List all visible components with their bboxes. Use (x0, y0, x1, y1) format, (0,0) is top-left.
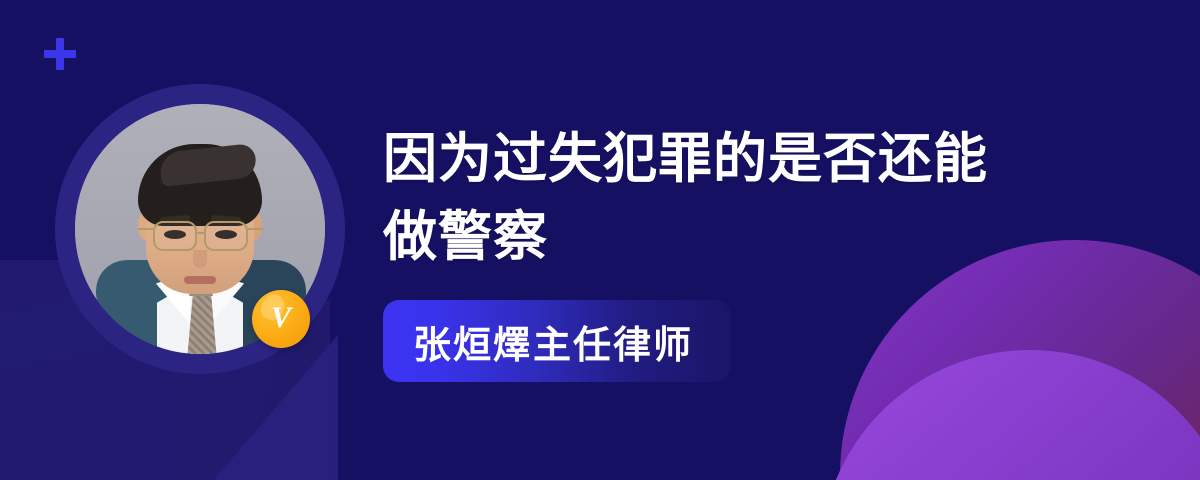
page-title: 因为过失犯罪的是否还能 做警察 (383, 120, 1143, 276)
lawyer-name-tag[interactable]: 张烜燡主任律师 (383, 300, 731, 382)
lawyer-banner: V 因为过失犯罪的是否还能 做警察 张烜燡主任律师 (0, 0, 1200, 480)
plus-icon (42, 36, 78, 72)
content-block: 因为过失犯罪的是否还能 做警察 张烜燡主任律师 (383, 120, 1143, 382)
verified-badge-letter: V (271, 303, 291, 333)
avatar: V (55, 84, 345, 374)
verified-badge-icon: V (252, 290, 310, 348)
